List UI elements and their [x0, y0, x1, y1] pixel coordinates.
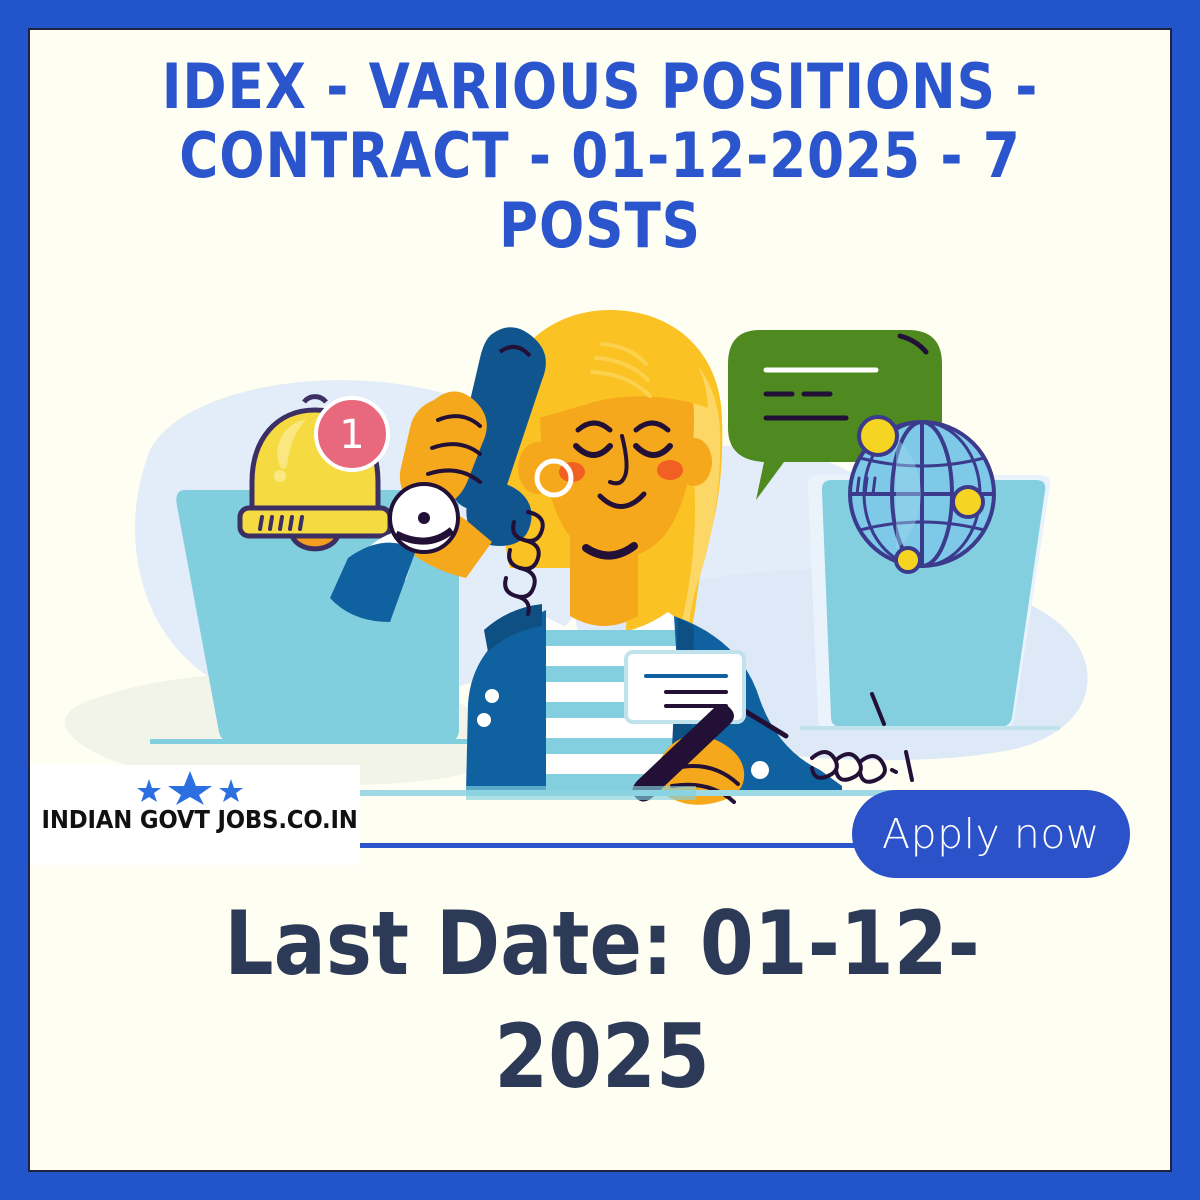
poster-card: IDEX - VARIOUS POSITIONS - CONTRACT - 01…: [28, 28, 1172, 1172]
last-date-text: Last Date: 01-12-2025: [151, 888, 1052, 1113]
stars-icon: [135, 771, 245, 805]
page-title: IDEX - VARIOUS POSITIONS - CONTRACT - 01…: [144, 52, 1056, 260]
site-logo[interactable]: INDIAN GOVT JOBS.CO.IN: [30, 765, 360, 865]
bell-badge-count: 1: [339, 412, 364, 458]
poster-root: IDEX - VARIOUS POSITIONS - CONTRACT - 01…: [0, 0, 1200, 1200]
title-area: IDEX - VARIOUS POSITIONS - CONTRACT - 01…: [30, 52, 1170, 260]
apply-now-button[interactable]: Apply now: [852, 790, 1130, 878]
logo-text: INDIAN GOVT JOBS.CO.IN: [42, 805, 349, 834]
hero-illustration: 1: [30, 300, 1172, 820]
